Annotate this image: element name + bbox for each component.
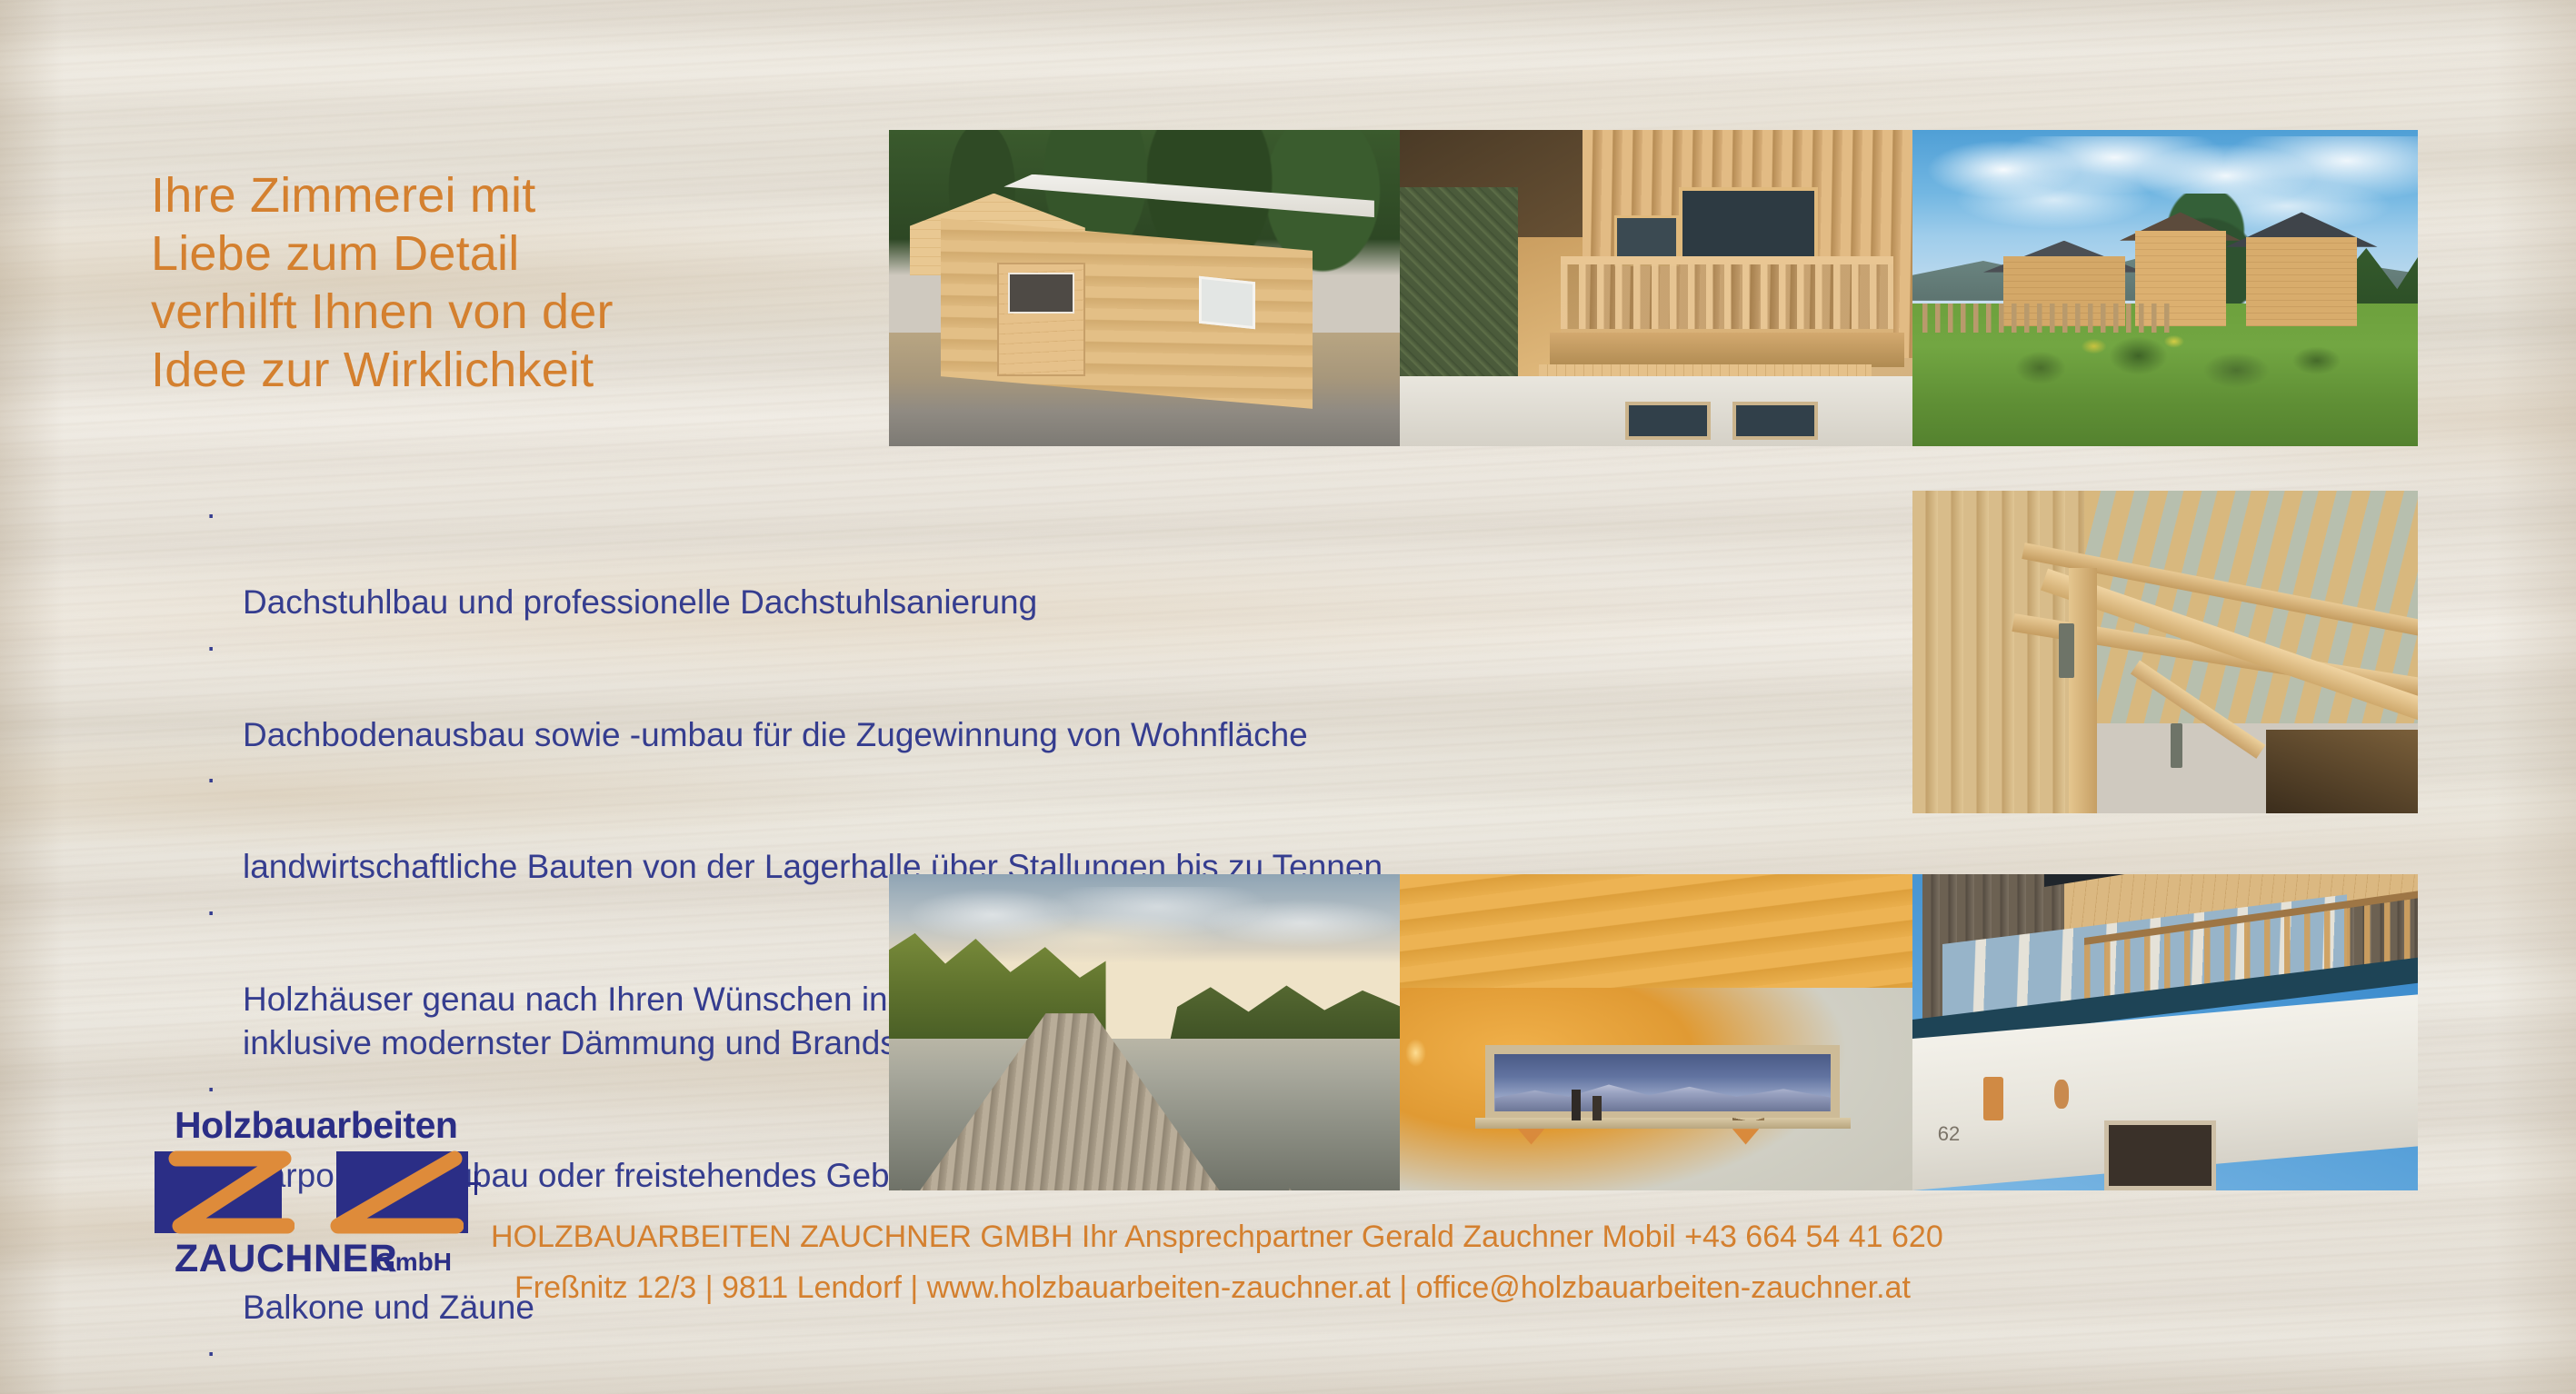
bullet-marker: · xyxy=(205,890,224,934)
bullet-marker: · xyxy=(205,625,224,670)
logo-top-text: Holzbauarbeiten xyxy=(175,1104,457,1147)
list-item: · Dachstuhlbau und professionelle Dachst… xyxy=(202,493,1929,625)
list-item: · Dachflächenfenster für Licht im Dachge… xyxy=(202,1330,1929,1394)
headline: Ihre Zimmerei mit Liebe zum Detail verhi… xyxy=(151,166,842,399)
list-item-label: Dachstuhlbau und professionelle Dachstuh… xyxy=(243,583,1037,621)
house-number: 62 xyxy=(1938,1122,1960,1146)
photo-garden-cabin xyxy=(889,130,1405,446)
list-item: · Dachbodenausbau sowie -umbau für die Z… xyxy=(202,625,1929,758)
photo-roof-truss-interior xyxy=(1912,491,2418,813)
bullet-marker: · xyxy=(205,757,224,802)
photo-interior-panorama-window xyxy=(1400,874,1936,1190)
contact-line-address[interactable]: Freßnitz 12/3 | 9811 Lendorf | www.holzb… xyxy=(491,1262,2527,1313)
list-item: · landwirtschaftliche Bauten von der Lag… xyxy=(202,757,1929,890)
logo-z-right-icon xyxy=(327,1148,464,1237)
list-item-label: Dachbodenausbau sowie -umbau für die Zug… xyxy=(243,716,1308,753)
bullet-marker: · xyxy=(205,493,224,537)
photo-lake-boardwalk xyxy=(889,874,1405,1190)
logo-suffix-text: GmbH xyxy=(375,1248,452,1277)
logo-bottom-text: ZAUCHNER xyxy=(175,1237,397,1281)
company-logo: Holzbauarbeiten ZAUCHNER GmbH xyxy=(155,1104,482,1286)
logo-tick-vertical xyxy=(474,1171,477,1195)
photo-house-with-balcony: 62 xyxy=(1912,874,2418,1190)
photo-timber-houses-garden xyxy=(1912,130,2418,446)
contact-block: HOLZBAUARBEITEN ZAUCHNER GMBH Ihr Anspre… xyxy=(491,1211,2527,1313)
photo-wooden-balcony xyxy=(1400,130,1936,446)
bullet-marker: · xyxy=(205,1330,224,1375)
bullet-marker: · xyxy=(205,1066,224,1110)
logo-z-left-icon xyxy=(167,1148,295,1237)
flyer-canvas: Ihre Zimmerei mit Liebe zum Detail verhi… xyxy=(0,0,2576,1394)
contact-line-company: HOLZBAUARBEITEN ZAUCHNER GMBH Ihr Anspre… xyxy=(491,1211,2527,1262)
